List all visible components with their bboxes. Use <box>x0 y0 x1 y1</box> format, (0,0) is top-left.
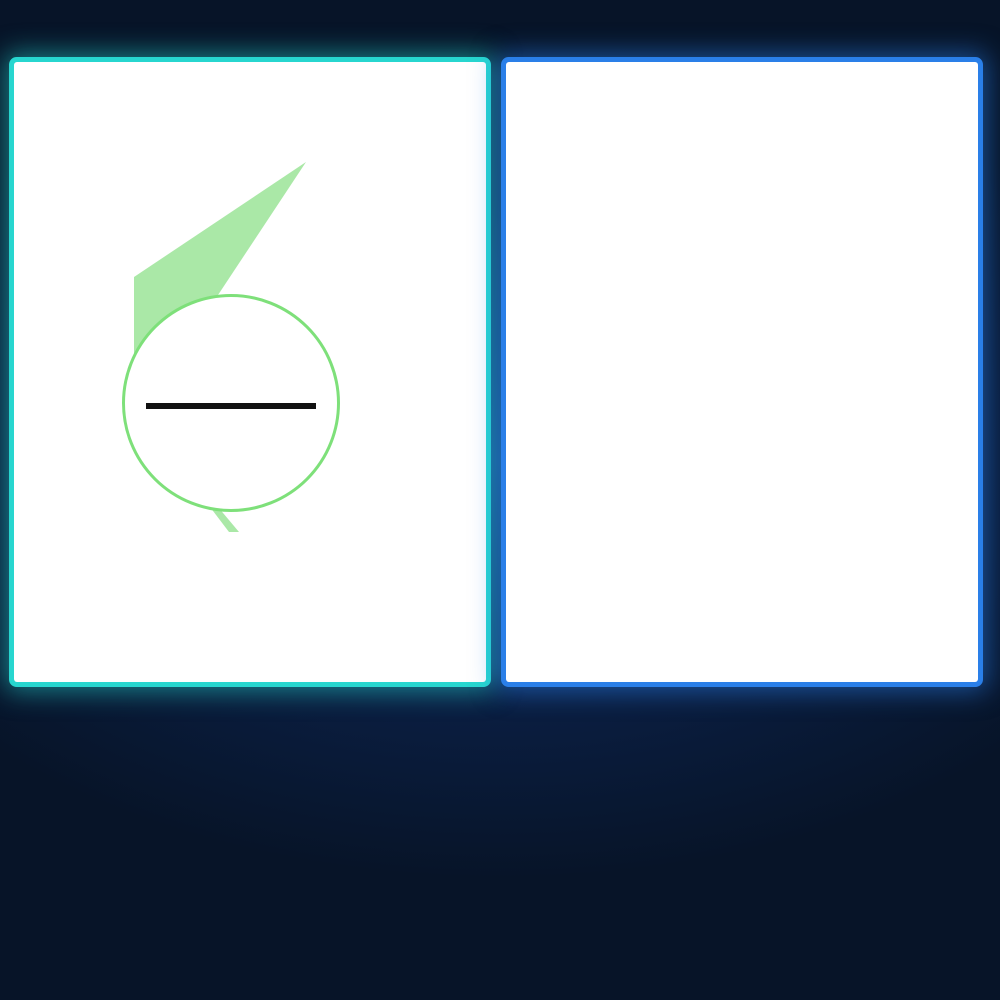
report-sheet-channel <box>510 66 974 678</box>
reports-row <box>0 62 1000 682</box>
length-callout <box>122 294 340 512</box>
report-panel-channel[interactable] <box>506 62 978 682</box>
length-callout-bar <box>146 403 316 409</box>
report-panel-permlink[interactable] <box>14 62 486 682</box>
page-title <box>0 0 1000 22</box>
